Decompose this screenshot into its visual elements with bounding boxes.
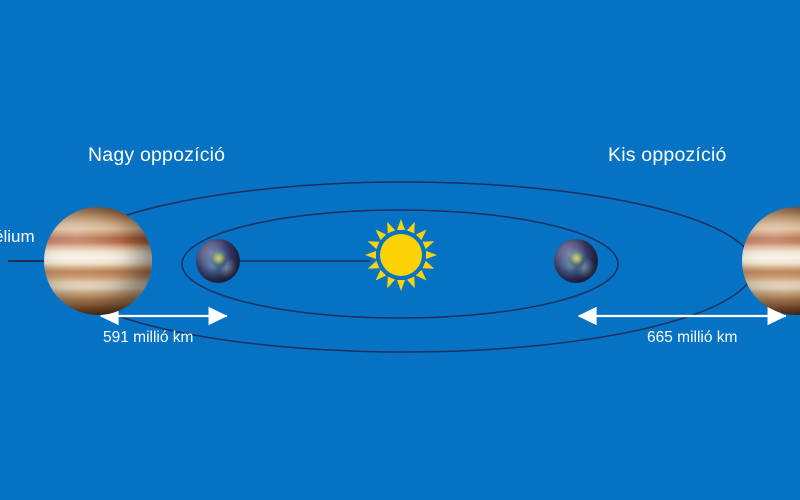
sun-ray	[397, 219, 405, 230]
sun-ray	[366, 261, 379, 273]
sun-ray	[365, 251, 376, 259]
distance-label-right: 665 millió km	[647, 330, 737, 346]
earth-right	[554, 239, 598, 283]
sun-ray	[416, 270, 429, 283]
sun-ray	[423, 238, 436, 250]
sun-ray	[407, 220, 419, 233]
label-apsis: élium	[0, 228, 35, 245]
sun-disc	[380, 234, 422, 276]
sun	[368, 222, 434, 288]
sun-ray	[426, 251, 437, 259]
sun-ray	[407, 277, 419, 290]
sun-ray	[384, 220, 396, 233]
label-nagy-oppozicio: Nagy oppozíció	[88, 146, 225, 166]
sun-ray	[373, 270, 386, 283]
sun-ray	[416, 227, 429, 240]
distance-label-left: 591 millió km	[103, 330, 193, 346]
sun-ray	[397, 280, 405, 291]
sun-ray	[373, 227, 386, 240]
diagram-canvas: Nagy oppozíció Kis oppozíció élium 591 m…	[0, 0, 800, 500]
earth-left	[196, 239, 240, 283]
sun-ray	[384, 277, 396, 290]
jupiter-left	[44, 207, 152, 315]
sun-ray	[366, 238, 379, 250]
label-kis-oppozicio: Kis oppozíció	[608, 146, 727, 166]
sun-ray	[423, 261, 436, 273]
